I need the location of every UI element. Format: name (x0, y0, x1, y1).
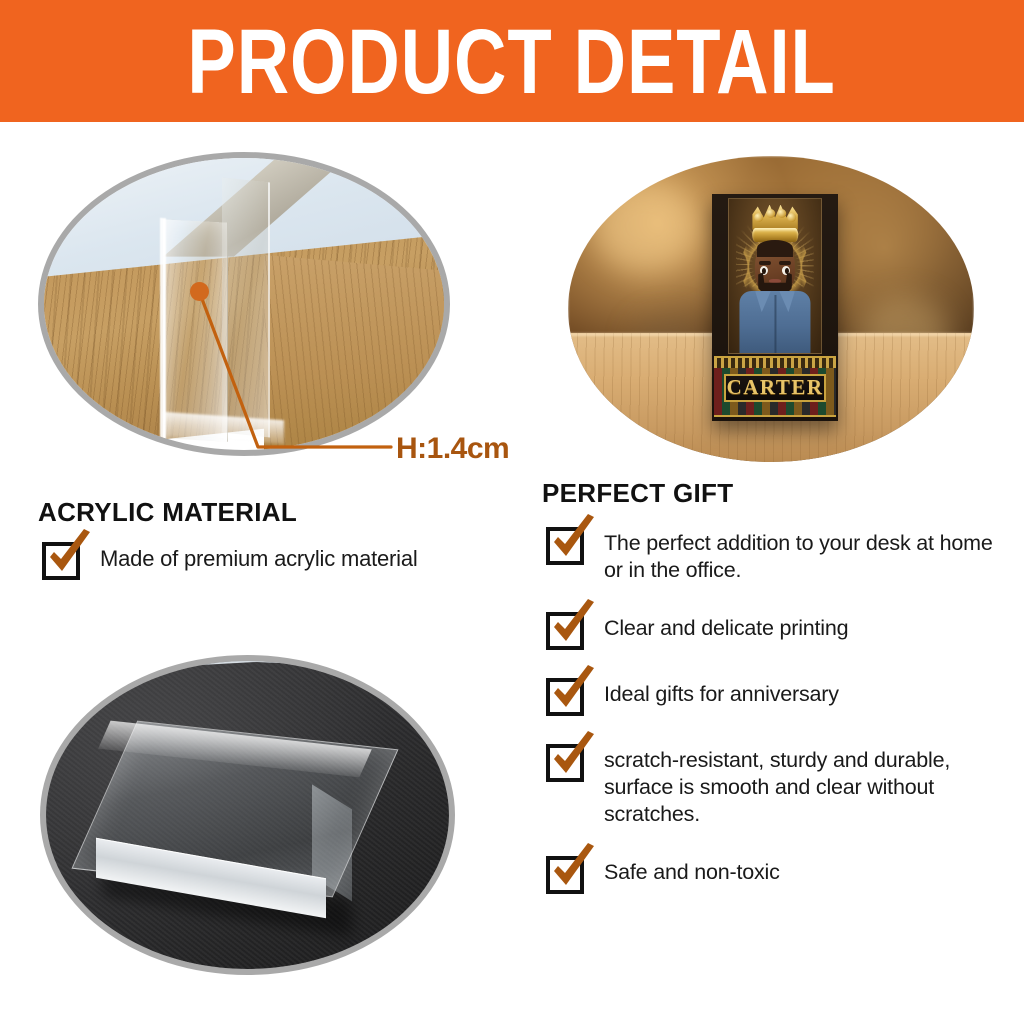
product-detail-page: PRODUCT DETAIL H:1.4cm (0, 0, 1024, 1024)
checkbox-checked-icon[interactable] (546, 527, 584, 565)
feature-list-perfect-gift: The perfect addition to your desk at hom… (546, 525, 1006, 920)
feature-text: Ideal gifts for anniversary (604, 676, 839, 708)
callout-anchor-dot (190, 282, 209, 301)
feature-text: The perfect addition to your desk at hom… (604, 525, 1006, 584)
product-packaging-box: CARTER (712, 194, 838, 420)
feature-item: Made of premium acrylic material (42, 540, 522, 580)
feature-item: Clear and delicate printing (546, 610, 1006, 650)
checkmark-icon (547, 731, 599, 783)
feature-text: scratch-resistant, sturdy and durable, s… (604, 742, 1006, 828)
character-pupil-right (785, 268, 789, 274)
height-measurement-label: H:1.4cm (396, 432, 509, 466)
wooden-table-surface-right (264, 254, 444, 450)
checkbox-checked-icon[interactable] (42, 542, 80, 580)
feature-text: Safe and non-toxic (604, 854, 780, 886)
section-heading-perfect-gift: PERFECT GIFT (542, 478, 733, 509)
shirt-collar-left (755, 291, 771, 312)
character-head (755, 240, 795, 296)
character-eyebrow-left (759, 261, 771, 265)
checkmark-icon (43, 529, 95, 581)
acrylic-slab-front-face (163, 219, 228, 441)
acrylic-edge-highlight (160, 218, 166, 443)
shirt-placket (774, 295, 776, 353)
character-hair (757, 240, 792, 257)
gold-crown-icon (752, 208, 798, 242)
crown-ball (777, 209, 786, 218)
checkbox-checked-icon[interactable] (546, 612, 584, 650)
photo-inner (46, 661, 449, 969)
nameplate-panel: CARTER (714, 356, 836, 417)
checkmark-icon (547, 665, 599, 717)
feature-list-acrylic-material: Made of premium acrylic material (42, 540, 522, 580)
checkbox-checked-icon[interactable] (546, 856, 584, 894)
nameplate-ribbon: CARTER (724, 374, 827, 401)
checkmark-icon (547, 599, 599, 651)
feature-item: Safe and non-toxic (546, 854, 1006, 894)
character-eyebrow-right (779, 261, 791, 265)
shirt-collar-right (779, 291, 795, 312)
feature-text: Made of premium acrylic material (100, 540, 418, 573)
nameplate-text: CARTER (727, 377, 824, 398)
page-title: PRODUCT DETAIL (188, 15, 836, 107)
feature-item: scratch-resistant, sturdy and durable, s… (546, 742, 1006, 828)
feature-item: The perfect addition to your desk at hom… (546, 525, 1006, 584)
character-mouth (769, 279, 780, 283)
header-banner: PRODUCT DETAIL (0, 0, 1024, 122)
photo-inner: CARTER (568, 156, 974, 462)
feature-item: Ideal gifts for anniversary (546, 676, 1006, 716)
product-display-photo: CARTER (568, 156, 974, 462)
section-heading-acrylic-material: ACRYLIC MATERIAL (38, 497, 297, 528)
edge-scene (44, 158, 444, 450)
feature-text: Clear and delicate printing (604, 610, 848, 642)
acrylic-block-on-slate-photo (40, 655, 455, 975)
bokeh-light (592, 180, 698, 272)
photo-inner (44, 158, 444, 450)
acrylic-slab-side-face (222, 177, 270, 437)
acrylic-edge-on-wood-photo (38, 152, 450, 456)
product-artwork-panel (728, 198, 821, 354)
checkmark-icon (547, 843, 599, 895)
checkmark-icon (547, 514, 599, 566)
nameplate-star-border (714, 358, 836, 368)
character-shirt (740, 291, 811, 353)
crown-ball (766, 209, 775, 218)
checkbox-checked-icon[interactable] (546, 744, 584, 782)
checkbox-checked-icon[interactable] (546, 678, 584, 716)
